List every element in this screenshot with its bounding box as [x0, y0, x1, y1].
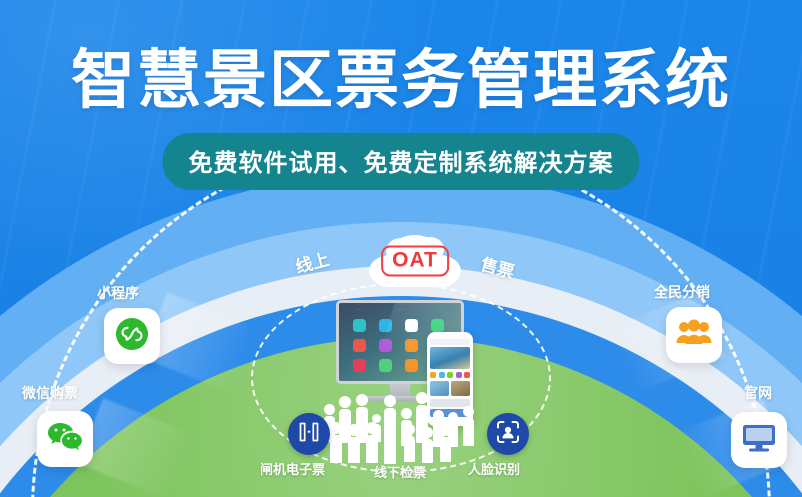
monitor-icon [741, 423, 777, 458]
offline-label-turnstile: 闸机电子票 [260, 459, 325, 478]
person-silhouette [330, 422, 342, 463]
person-silhouette [422, 427, 433, 463]
promo-banner: 智慧景区票务管理系统 免费软件试用、免费定制系统解决方案 线上 售票 OAT 小… [0, 0, 802, 497]
person-silhouette [384, 427, 396, 464]
app-icon [353, 359, 366, 372]
person-silhouette [463, 406, 474, 446]
wechat-miniprogram-icon [115, 317, 149, 356]
phone-quick-icons [430, 372, 470, 378]
channel-label-website: 官网 [744, 383, 772, 403]
imac-topbar-item: ····· [356, 307, 361, 311]
channel-tile-wechat[interactable] [37, 411, 93, 467]
turnstile-gate-icon [296, 420, 322, 449]
channel-tile-distribution[interactable] [666, 307, 722, 363]
face-recognition-icon [495, 419, 521, 450]
channel-label-wechat: 微信购票 [22, 383, 78, 403]
offline-icon-turnstile[interactable] [288, 413, 330, 455]
phone-statusbar [430, 339, 470, 345]
cloud-icon: OAT [367, 231, 463, 293]
offline-label-ticket-check: 线下检票 [374, 462, 426, 481]
phone-icon [439, 372, 445, 378]
wechat-icon [47, 421, 83, 458]
phone-icon [456, 372, 462, 378]
offline-icon-face-recognition[interactable] [487, 413, 529, 455]
crowd-silhouettes [322, 392, 492, 454]
phone-icon [430, 372, 436, 378]
person-silhouette [348, 424, 360, 463]
page-title: 智慧景区票务管理系统 [0, 48, 802, 112]
app-icon [353, 319, 366, 332]
channel-tile-website[interactable] [731, 412, 787, 468]
person-silhouette [366, 422, 378, 463]
offline-label-face-recognition: 人脸识别 [468, 459, 520, 478]
phone-icon [464, 372, 470, 378]
phone-hero-image [430, 347, 470, 369]
app-icon [353, 339, 366, 352]
person-silhouette [404, 424, 415, 462]
channel-label-distribution: 全民分销 [654, 282, 710, 302]
person-silhouette [440, 425, 451, 462]
channel-tile-miniprogram[interactable] [104, 308, 160, 364]
people-group-icon [676, 318, 712, 353]
oat-badge: OAT [381, 245, 449, 276]
subtitle-pill: 免费软件试用、免费定制系统解决方案 [163, 133, 640, 190]
phone-icon [447, 372, 453, 378]
channel-label-miniprogram: 小程序 [97, 283, 139, 303]
